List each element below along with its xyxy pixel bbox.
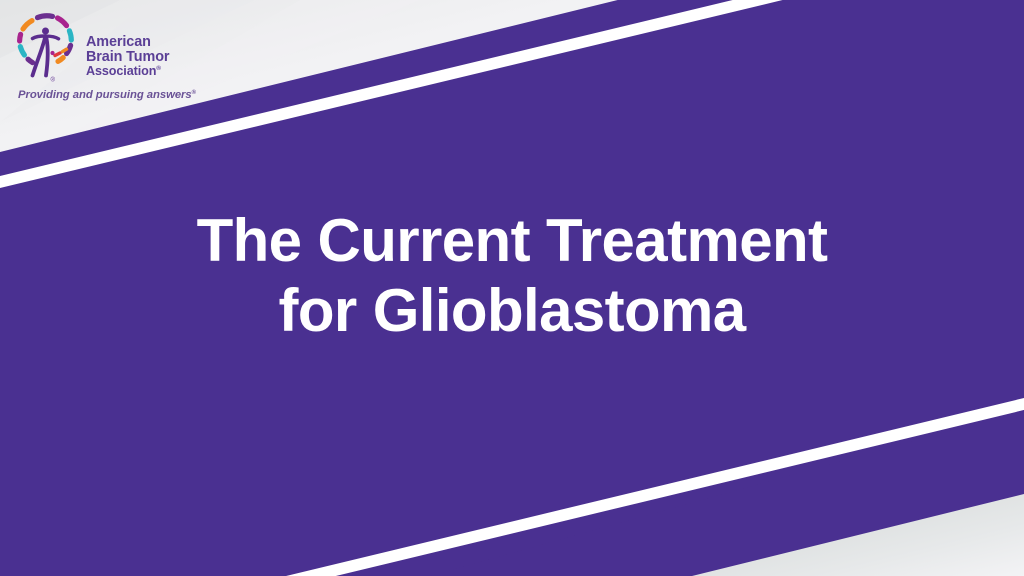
- logo-wordmark-line-3: Association®: [86, 65, 186, 78]
- logo-wordmark-line-1: American: [86, 35, 186, 50]
- logo-tagline-text: Providing and pursuing answers: [18, 89, 192, 101]
- american-brain-tumor-association-logo: ® American Brain Tumor Association® Prov…: [14, 9, 184, 107]
- slide-title: The Current Treatment for Glioblastoma: [0, 206, 1024, 345]
- logo-registered-mark: ®: [51, 77, 56, 84]
- logo-wordmark: American Brain Tumor Association®: [86, 35, 186, 78]
- logo-figure-icon: [33, 28, 59, 76]
- abta-logo-mark-icon: ®: [14, 9, 82, 87]
- logo-tagline-reg: ®: [192, 90, 196, 96]
- slide-title-line-1: The Current Treatment: [0, 206, 1024, 276]
- logo-wordmark-reg: ®: [156, 65, 161, 72]
- presentation-slide: ® American Brain Tumor Association® Prov…: [0, 0, 1024, 576]
- logo-wordmark-line-2: Brain Tumor: [86, 50, 186, 65]
- slide-title-line-2: for Glioblastoma: [0, 276, 1024, 346]
- logo-tagline: Providing and pursuing answers®: [18, 89, 196, 101]
- logo-wordmark-association: Association: [86, 64, 156, 78]
